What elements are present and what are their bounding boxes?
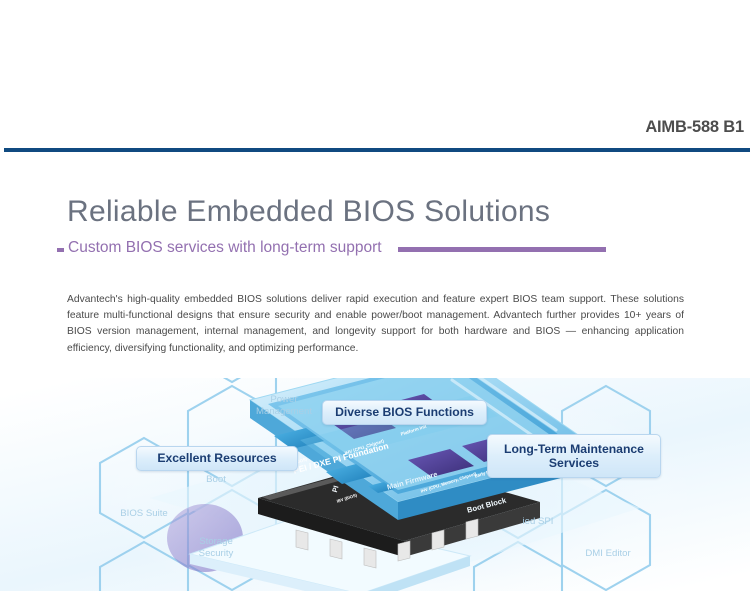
page-title: Reliable Embedded BIOS Solutions <box>67 195 550 229</box>
subtitle-dash-marker <box>57 248 64 252</box>
callout-longterm-line1: Long-Term Maintenance <box>504 442 644 456</box>
callout-diverse-bios-functions: Diverse BIOS Functions <box>322 400 487 425</box>
callout-long-term-maintenance-services: Long-Term Maintenance Services <box>487 434 661 478</box>
header-divider-rule <box>4 148 750 152</box>
hex-label-bios-suite: BIOS Suite <box>106 508 182 520</box>
hex-label-dmi-editor: DMI Editor <box>570 548 646 560</box>
callout-longterm-line2: Services <box>549 456 599 470</box>
hex-label-unified-spi: ied SPI <box>506 516 570 528</box>
model-code: AIMB-588 B1 <box>645 118 744 137</box>
hex-label-storage-security: Storage Security <box>186 536 246 559</box>
subtitle-row: Custom BIOS services with long-term supp… <box>57 239 747 263</box>
title-block: Reliable Embedded BIOS Solutions Custom … <box>0 195 750 275</box>
page-header: AIMB-588 B1 <box>0 0 750 153</box>
hex-label-power-management: Power Management <box>242 394 326 417</box>
page-subtitle: Custom BIOS services with long-term supp… <box>68 239 382 257</box>
subtitle-accent-rule <box>398 247 606 252</box>
intro-paragraph: Advantech's high-quality embedded BIOS s… <box>67 292 684 357</box>
callout-excellent-resources: Excellent Resources <box>136 446 298 471</box>
